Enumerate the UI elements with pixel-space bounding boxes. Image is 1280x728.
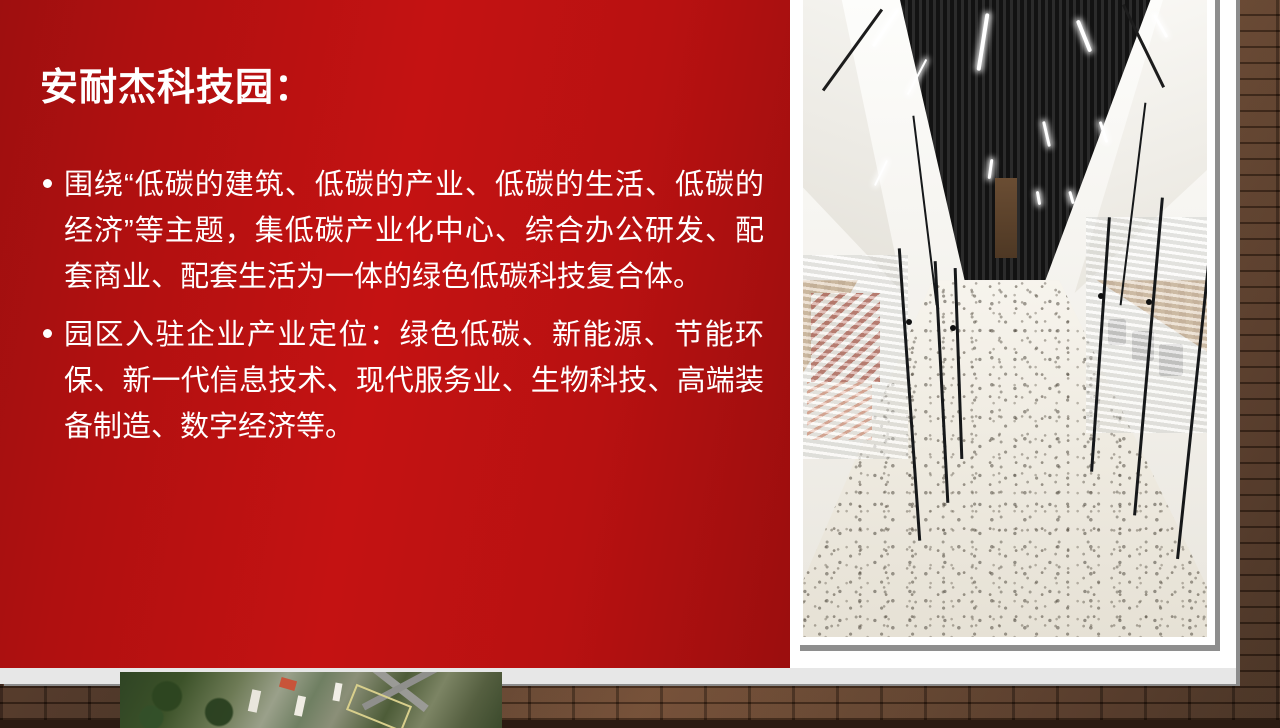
list-item-text: 园区入驻企业产业定位：绿色低碳、新能源、节能环保、新一代信息技术、现代服务业、生…: [64, 319, 764, 443]
red-content-panel: 安耐杰科技园： 围绕“低碳的建筑、低碳的产业、低碳的生活、低碳的经济”等主题，集…: [0, 0, 790, 668]
aerial-trees: [128, 675, 258, 728]
bullet-list: 围绕“低碳的建筑、低碳的产业、低碳的生活、低碳的经济”等主题，集低碳产业化中心、…: [38, 162, 764, 462]
door-handle: [906, 319, 912, 325]
presentation-slide: 安耐杰科技园： 围绕“低碳的建筑、低碳的产业、低碳的生活、低碳的经济”等主题，集…: [0, 0, 1236, 684]
aerial-building: [279, 677, 297, 691]
list-item: 围绕“低碳的建筑、低碳的产业、低碳的生活、低碳的经济”等主题，集低碳产业化中心、…: [38, 162, 764, 300]
bullet-dot-icon: [43, 179, 52, 188]
aerial-building: [332, 683, 342, 702]
list-item-text: 围绕“低碳的建筑、低碳的产业、低碳的生活、低碳的经济”等主题，集低碳产业化中心、…: [64, 169, 764, 293]
page-title: 安耐杰科技园：: [40, 67, 313, 111]
aerial-building: [294, 695, 306, 716]
door-handle: [1098, 293, 1104, 299]
corridor-end-door: [995, 178, 1017, 258]
photo-frame: [795, 0, 1215, 645]
fluted-glass-panel-left: [803, 255, 908, 459]
office-corridor-photo: [803, 0, 1207, 637]
bullet-dot-icon: [43, 329, 52, 338]
fluted-glass-panel-right: [1086, 217, 1207, 434]
list-item: 园区入驻企业产业定位：绿色低碳、新能源、节能环保、新一代信息技术、现代服务业、生…: [38, 312, 764, 450]
